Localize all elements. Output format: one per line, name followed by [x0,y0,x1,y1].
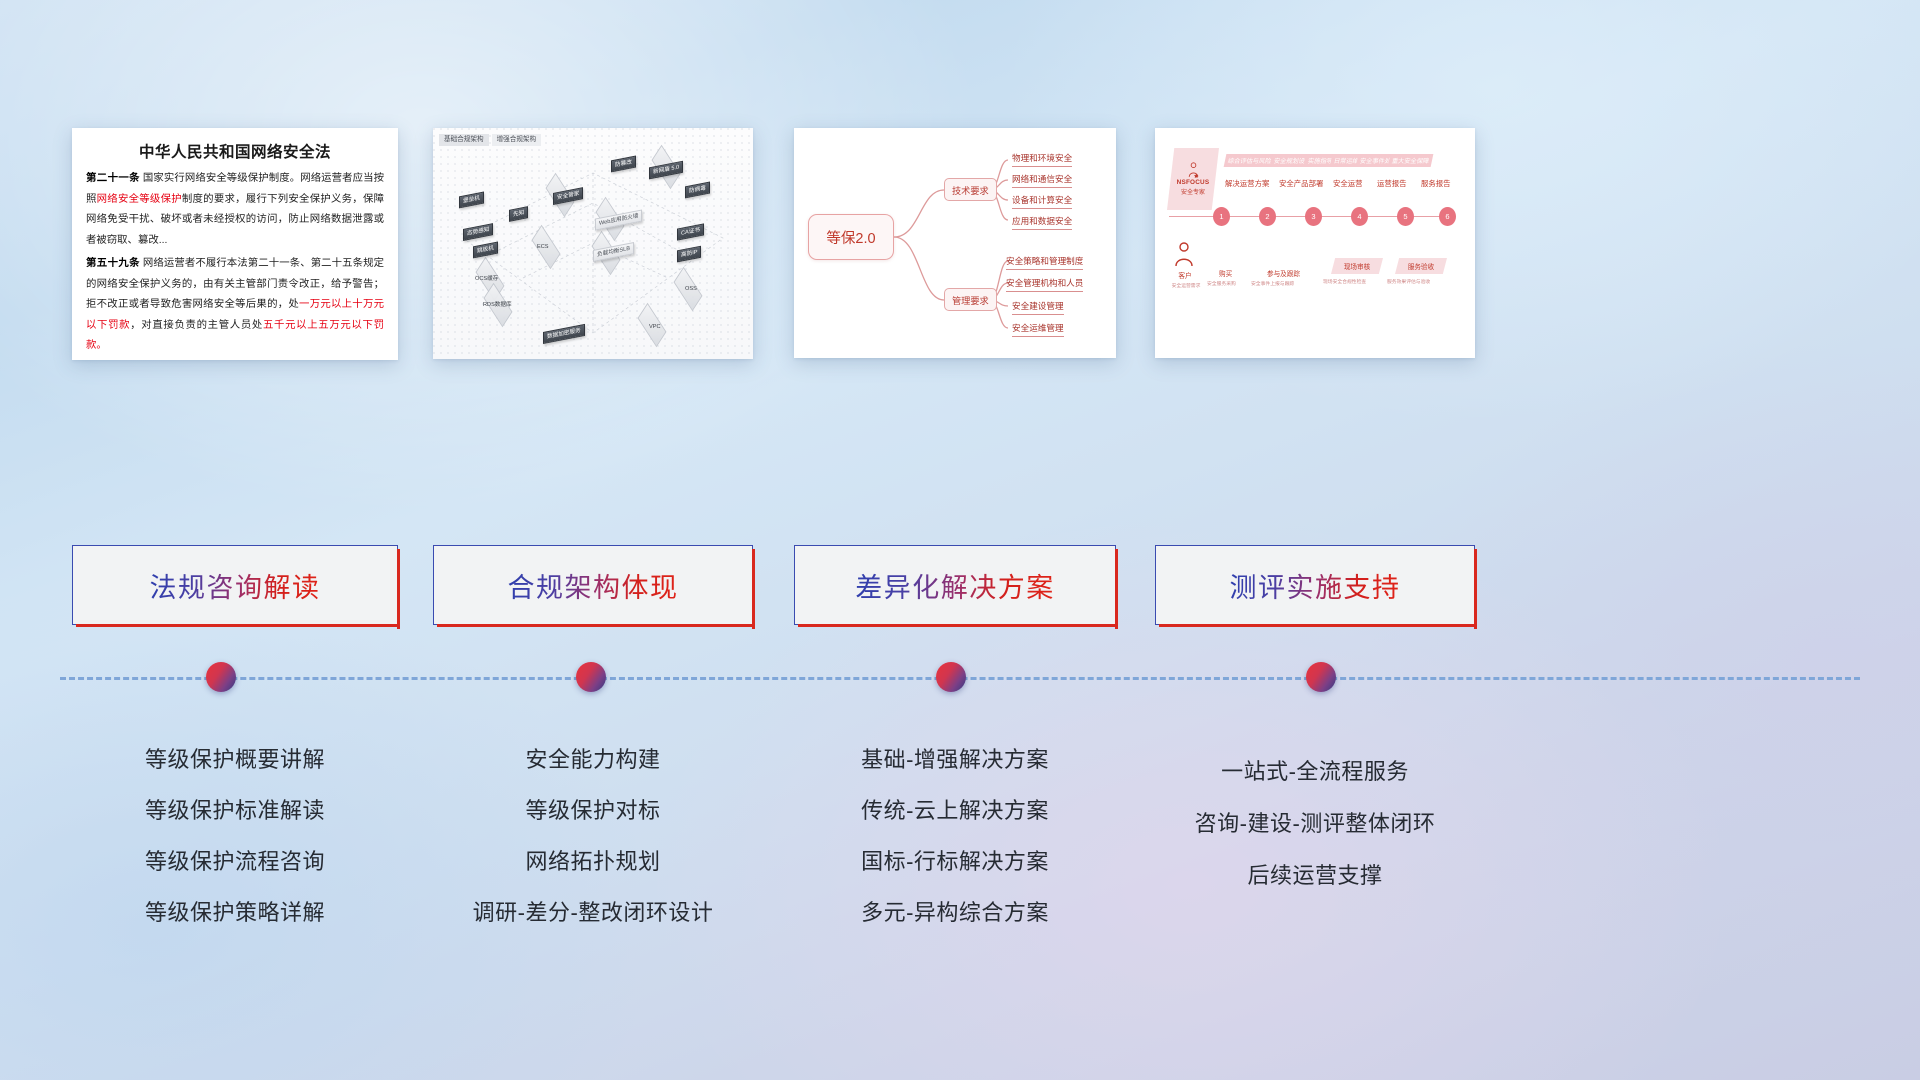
nsfocus-card: NSFOCUS 安全专家 综合评估与风险分析 安全规划设计 实施指导 日常运维 … [1155,128,1475,358]
section-header-3-label: 差异化解决方案 [855,566,1055,605]
customer-icon [1169,240,1199,272]
mindmap: 等保2.0 技术要求 管理要求 物理和环境安全 网络和通信安全 设备和计算安全 … [794,128,1116,358]
mindmap-branch-management: 管理要求 [944,288,997,311]
law-paragraph: 第五十九条 网络运营者不履行本法第二十一条、第二十五条规定的网络安全保护义务的，… [86,254,384,357]
bullet-column-1: 等级保护概要讲解 等级保护标准解读 等级保护流程咨询 等级保护策略详解 [72,734,398,938]
nsfocus-step: 安全运营 [1333,178,1363,189]
mindmap-leaf: 网络和通信安全 [1012,173,1072,188]
mindmap-leaf: 安全建设管理 [1012,300,1064,315]
section-header-4[interactable]: 测评实施支持 [1155,545,1475,625]
nsfocus-trapezoid: 现场审核 [1331,258,1383,274]
law-card: 中华人民共和国网络安全法 第二十一条 国家实行网络安全等级保护制度。网络运营者应… [72,128,398,360]
law-card-body: 第二十一条 国家实行网络安全等级保护制度。网络运营者应当按照网络安全等级保护制度… [72,169,398,357]
law-paragraph: 第二十一条 国家实行网络安全等级保护制度。网络运营者应当按照网络安全等级保护制度… [86,169,384,251]
section-header-1-label: 法规咨询解读 [150,566,321,605]
person-icon [1187,162,1200,178]
nsfocus-customer-note: 安全运营需求 [1161,282,1211,289]
list-item: 基础-增强解决方案 [794,734,1116,785]
list-item: 一站式-全流程服务 [1155,746,1475,798]
iso-label: OSS [685,286,697,292]
nsfocus-step: 服务报告 [1421,178,1451,189]
law-text-highlight: 网络安全等级保护 [97,194,182,205]
section-header-1[interactable]: 法规咨询解读 [72,545,398,625]
list-item: 安全能力构建 [433,734,753,785]
list-item: 传统-云上解决方案 [794,785,1116,836]
mindmap-leaf: 安全管理机构和人员 [1006,277,1083,292]
nsfocus-bottom-tag: 购买 [1219,268,1232,278]
nsfocus-infographic: NSFOCUS 安全专家 综合评估与风险分析 安全规划设计 实施指导 日常运维 … [1155,128,1475,358]
nsfocus-customer-label: 客户 [1163,270,1207,280]
nsfocus-step: 安全产品部署 [1279,178,1323,189]
iso-label: RDS数据库 [483,300,512,308]
list-item: 网络拓扑规划 [433,836,753,887]
nsfocus-trap-note: 现场安全合规性检查 [1323,278,1366,285]
list-item: 咨询-建设-测评整体闭环 [1155,798,1475,850]
list-item: 等级保护标准解读 [72,785,398,836]
mindmap-branch-technical: 技术要求 [944,178,997,201]
nsfocus-badge-name: NSFOCUS [1177,179,1210,186]
timeline-dot-3 [936,662,966,692]
nsfocus-bottom-note: 安全事件上报与跟踪 [1251,280,1294,287]
section-header-2[interactable]: 合规架构体现 [433,545,753,625]
nsfocus-step-dot: 1 [1213,207,1230,226]
iso-label: OCS缓存 [475,274,498,282]
list-item: 国标-行标解决方案 [794,836,1116,887]
nsfocus-step-dot: 5 [1397,207,1414,226]
law-text: ，对直接负责的主管人员处 [130,320,263,331]
list-item: 后续运营支撑 [1155,850,1475,902]
bullet-column-4: 一站式-全流程服务 咨询-建设-测评整体闭环 后续运营支撑 [1155,746,1475,902]
nsfocus-trap-note: 服务效果评估与验收 [1387,278,1430,285]
nsfocus-chip: 重大安全保障 [1388,154,1434,167]
nsfocus-trapezoid: 服务验收 [1395,258,1447,274]
cards-row: 中华人民共和国网络安全法 第二十一条 国家实行网络安全等级保护制度。网络运营者应… [0,128,1920,363]
section-header-4-label: 测评实施支持 [1230,566,1401,605]
nsfocus-step-dot: 2 [1259,207,1276,226]
nsfocus-badge-subtitle: 安全专家 [1181,187,1205,196]
nsfocus-badge: NSFOCUS 安全专家 [1167,148,1219,210]
nsfocus-step-dot: 4 [1351,207,1368,226]
architecture-card: 基础合规架构 增强合规架构 防篡改 安全管家 先知 [433,128,753,359]
list-item: 多元-异构综合方案 [794,887,1116,938]
nsfocus-bottom-tag: 参与及跟踪 [1267,268,1300,278]
section-header-3[interactable]: 差异化解决方案 [794,545,1116,625]
mindmap-leaf: 安全运维管理 [1012,322,1064,337]
list-item: 等级保护概要讲解 [72,734,398,785]
architecture-diagram: 基础合规架构 增强合规架构 防篡改 安全管家 先知 [433,128,753,359]
mindmap-leaf: 物理和环境安全 [1012,152,1072,167]
law-article-number: 第二十一条 [86,173,140,184]
nsfocus-bottom-note: 安全服务采购 [1207,280,1236,287]
timeline-dot-1 [206,662,236,692]
bullet-column-3: 基础-增强解决方案 传统-云上解决方案 国标-行标解决方案 多元-异构综合方案 [794,734,1116,938]
mindmap-leaf: 安全策略和管理制度 [1006,255,1083,270]
bullet-column-2: 安全能力构建 等级保护对标 网络拓扑规划 调研-差分-整改闭环设计 [433,734,753,938]
section-header-2-label: 合规架构体现 [508,566,679,605]
mindmap-card: 等保2.0 技术要求 管理要求 物理和环境安全 网络和通信安全 设备和计算安全 … [794,128,1116,358]
section-headers: 法规咨询解读 合规架构体现 差异化解决方案 测评实施支持 [0,545,1920,627]
law-card-title: 中华人民共和国网络安全法 [72,128,398,169]
law-article-number: 第五十九条 [86,258,140,269]
list-item: 调研-差分-整改闭环设计 [433,887,753,938]
mindmap-root-node: 等保2.0 [808,214,894,260]
mindmap-leaf: 设备和计算安全 [1012,194,1072,209]
iso-label: VPC [649,324,661,330]
iso-label: ECS [537,244,549,250]
nsfocus-step: 运营报告 [1377,178,1407,189]
timeline-dot-4 [1306,662,1336,692]
list-item: 等级保护对标 [433,785,753,836]
timeline-dot-2 [576,662,606,692]
nsfocus-step: 解决运营方案 [1225,178,1269,189]
nsfocus-step-dot: 6 [1439,207,1456,226]
list-item: 等级保护策略详解 [72,887,398,938]
nsfocus-step-dot: 3 [1305,207,1322,226]
list-item: 等级保护流程咨询 [72,836,398,887]
mindmap-leaf: 应用和数据安全 [1012,215,1072,230]
